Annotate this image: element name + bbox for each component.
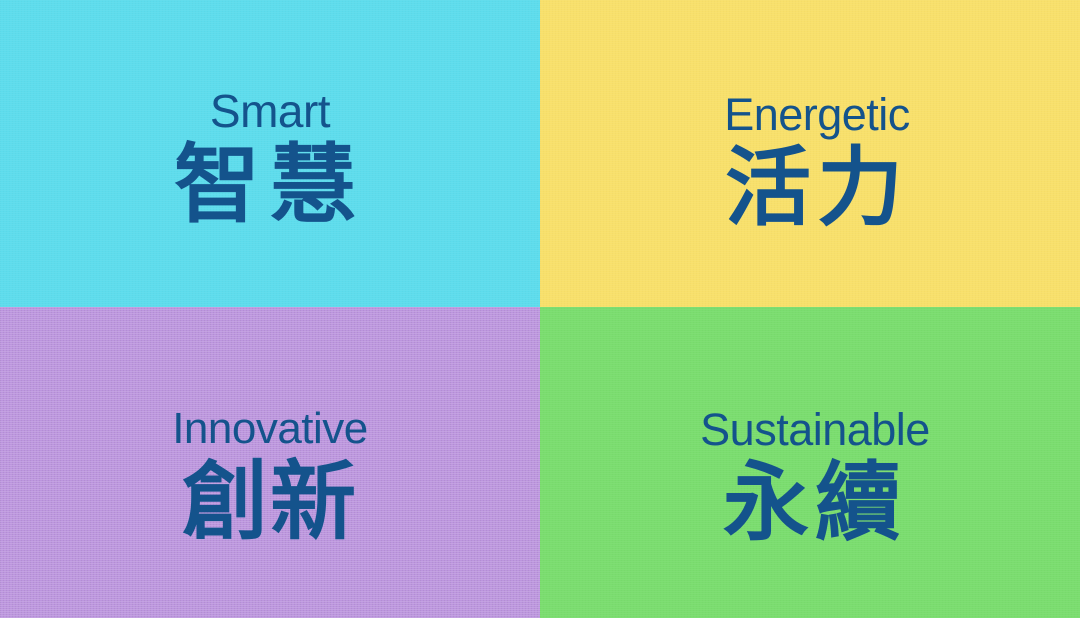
value-text-stack-innovative: Innovative 創新: [172, 407, 368, 545]
value-text-stack-energetic: Energetic 活力: [724, 92, 910, 231]
value-label-en-smart: Smart: [210, 88, 330, 134]
value-label-zh-energetic: 活力: [725, 145, 909, 231]
value-cell-energetic[interactable]: Energetic 活力: [540, 0, 1080, 307]
value-label-zh-smart: 智慧: [174, 142, 366, 228]
value-label-zh-innovative: 創新: [182, 459, 358, 545]
value-cell-smart[interactable]: Smart 智慧: [0, 0, 540, 307]
value-label-en-innovative: Innovative: [172, 407, 368, 451]
value-label-en-sustainable: Sustainable: [700, 407, 930, 452]
value-label-zh-sustainable: 永續: [723, 460, 907, 546]
value-text-stack-smart: Smart 智慧: [174, 88, 366, 228]
value-label-en-energetic: Energetic: [724, 92, 910, 137]
value-cell-innovative[interactable]: Innovative 創新: [0, 307, 540, 618]
value-text-stack-sustainable: Sustainable 永續: [700, 407, 930, 546]
values-grid: Smart 智慧 Energetic 活力 Innovative 創新 Sust…: [0, 0, 1080, 618]
value-cell-sustainable[interactable]: Sustainable 永續: [540, 307, 1080, 618]
